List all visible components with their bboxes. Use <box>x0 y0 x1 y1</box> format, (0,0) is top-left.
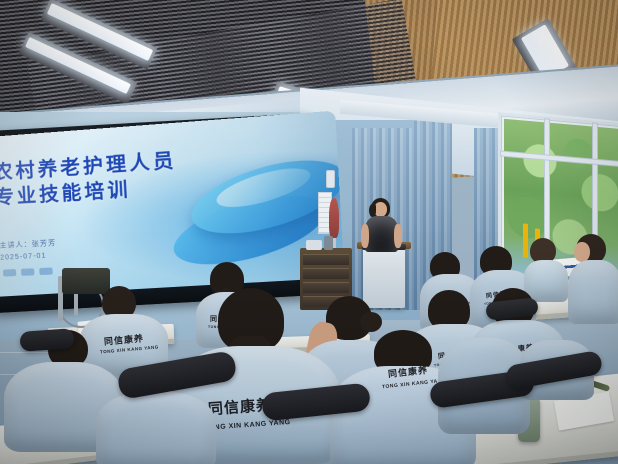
wheelchair-backrest <box>62 268 110 294</box>
student-bun <box>360 312 382 332</box>
anatomical-muscle-model <box>329 198 339 238</box>
student-torso <box>568 260 618 324</box>
cabinet-drawer-1 <box>303 254 349 265</box>
classroom-photo: 农村养老护理人员 专业技能培训 主讲人：张芳芳 2025-07-01 <box>0 0 618 464</box>
screen-surface: 农村养老护理人员 专业技能培训 主讲人：张芳芳 2025-07-01 <box>0 111 345 299</box>
uniform-pinyin-text: TONG XIN KANG YANG <box>204 419 291 432</box>
podium <box>363 248 405 308</box>
instructor-arm-left <box>361 224 369 248</box>
chair-back-left-rear <box>19 328 74 352</box>
cabinet-top-items <box>306 240 322 250</box>
uniform-chinese-text: 同信康养 <box>104 334 145 346</box>
student-face <box>574 242 590 262</box>
student-torso <box>96 392 216 464</box>
instructor-arm-right <box>394 224 402 248</box>
cabinet-top-items-2 <box>324 236 333 250</box>
yellow-bollard-outside <box>523 223 528 257</box>
cabinet-drawer-2 <box>303 268 349 279</box>
uniform-chinese-text: 同信康养 <box>388 366 429 379</box>
wall-device <box>326 170 335 188</box>
screen-curvature-shading <box>0 111 345 299</box>
cabinet-drawer-3 <box>303 282 349 293</box>
uniform-pinyin-text: TONG XIN KANG YANG <box>100 345 159 355</box>
led-display-screen: 农村养老护理人员 专业技能培训 主讲人：张芳芳 2025-07-01 <box>0 113 323 313</box>
